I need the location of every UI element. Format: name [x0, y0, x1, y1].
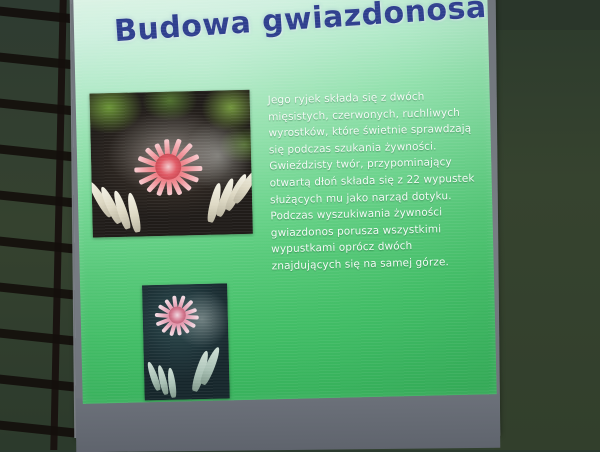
ladder-rung	[0, 328, 78, 347]
star-nosed-mole-dark-photo	[142, 283, 230, 400]
ladder-rung	[0, 144, 78, 163]
nose-center	[155, 153, 182, 180]
screen-lower-band	[76, 394, 501, 452]
body-line: znajdujących się na samej górze.	[271, 254, 471, 275]
wall-left-with-ladder	[0, 0, 78, 450]
presentation-slide: Budowa gwiazdonosa	[73, 0, 496, 404]
ladder-rung	[0, 374, 78, 393]
wall-right-upper-shadow	[494, 0, 600, 30]
wall-right	[494, 0, 600, 450]
nose-center	[169, 306, 186, 323]
room-background: Budowa gwiazdonosa	[0, 0, 600, 450]
ladder-rung	[0, 98, 78, 117]
star-nosed-mole-closeup-photo	[90, 90, 253, 238]
ladder-rung	[0, 52, 78, 71]
slide-body-text: Jego ryjek składa się z dwóchmięsistych,…	[268, 88, 472, 275]
ladder-rung	[0, 236, 78, 255]
ladder-rung	[0, 190, 78, 209]
ladder-rung	[0, 282, 78, 301]
ladder-rung	[0, 420, 78, 439]
slide-title: Budowa gwiazdonosa	[113, 0, 497, 49]
